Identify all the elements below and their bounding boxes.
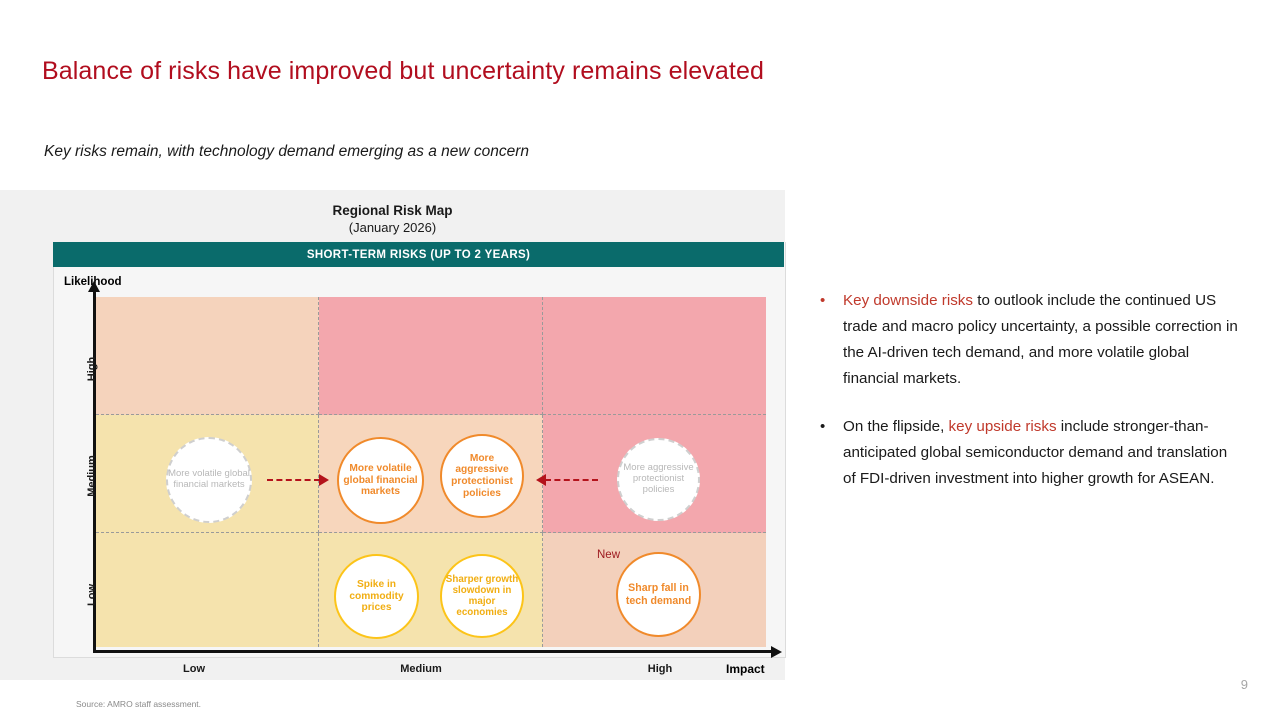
new-badge: New xyxy=(597,549,620,561)
bullet-marker: • xyxy=(820,288,825,314)
page-title: Balance of risks have improved but uncer… xyxy=(42,57,764,86)
y-axis-arrow xyxy=(88,281,100,292)
bullet-highlight-upside: key upside risks xyxy=(949,418,1057,435)
y-tick-low: Low xyxy=(86,565,98,625)
cell-high-high xyxy=(543,297,766,415)
y-tick-high: High xyxy=(86,339,98,399)
x-axis-arrow xyxy=(771,646,782,658)
risk-bubble-tech-demand[interactable]: Sharp fall in tech demand xyxy=(616,552,701,637)
x-axis-line xyxy=(93,650,773,653)
slide: Balance of risks have improved but uncer… xyxy=(0,0,1280,720)
commentary-list: • Key downside risks to outlook include … xyxy=(812,288,1244,513)
list-item: • On the flipside, key upside risks incl… xyxy=(812,414,1244,492)
movement-arrow-right-line xyxy=(267,479,320,481)
x-axis-title: Impact xyxy=(726,662,765,676)
chart-subtitle: (January 2026) xyxy=(0,220,785,235)
chart-title: Regional Risk Map xyxy=(0,202,785,221)
risk-bubble-ghost-protectionist-policies[interactable]: More aggressive protectionist policies xyxy=(617,438,700,521)
list-item: • Key downside risks to outlook include … xyxy=(812,288,1244,393)
cell-low-low xyxy=(96,533,319,647)
bullet-text-upside-pre: On the flipside, xyxy=(843,418,949,435)
x-tick-low: Low xyxy=(149,663,239,675)
risk-bubble-volatile-markets[interactable]: More volatile global financial markets xyxy=(337,437,424,524)
x-tick-medium: Medium xyxy=(376,663,466,675)
y-tick-medium: Medium xyxy=(86,446,98,506)
risk-bubble-commodity-prices[interactable]: Spike in commodity prices xyxy=(334,554,419,639)
page-number: 9 xyxy=(1241,677,1248,692)
source-note: Source: AMRO staff assessment. xyxy=(76,699,201,709)
risk-bubble-protectionist-policies[interactable]: More aggressive protectionist policies xyxy=(440,434,524,518)
movement-arrow-right-head xyxy=(319,474,329,486)
page-subtitle: Key risks remain, with technology demand… xyxy=(44,143,529,161)
movement-arrow-left-head xyxy=(536,474,546,486)
cell-medium-high xyxy=(319,297,542,415)
risk-bubble-growth-slowdown[interactable]: Sharper growth slowdown in major economi… xyxy=(440,554,524,638)
x-tick-high: High xyxy=(615,663,705,675)
bullet-highlight-downside: Key downside risks xyxy=(843,292,973,309)
short-term-risks-band: SHORT-TERM RISKS (UP TO 2 YEARS) xyxy=(53,242,784,267)
movement-arrow-left-line xyxy=(545,479,598,481)
risk-bubble-ghost-volatile-markets[interactable]: More volatile global financial markets xyxy=(166,437,252,523)
cell-low-high xyxy=(96,297,319,415)
bullet-marker: • xyxy=(820,414,825,440)
